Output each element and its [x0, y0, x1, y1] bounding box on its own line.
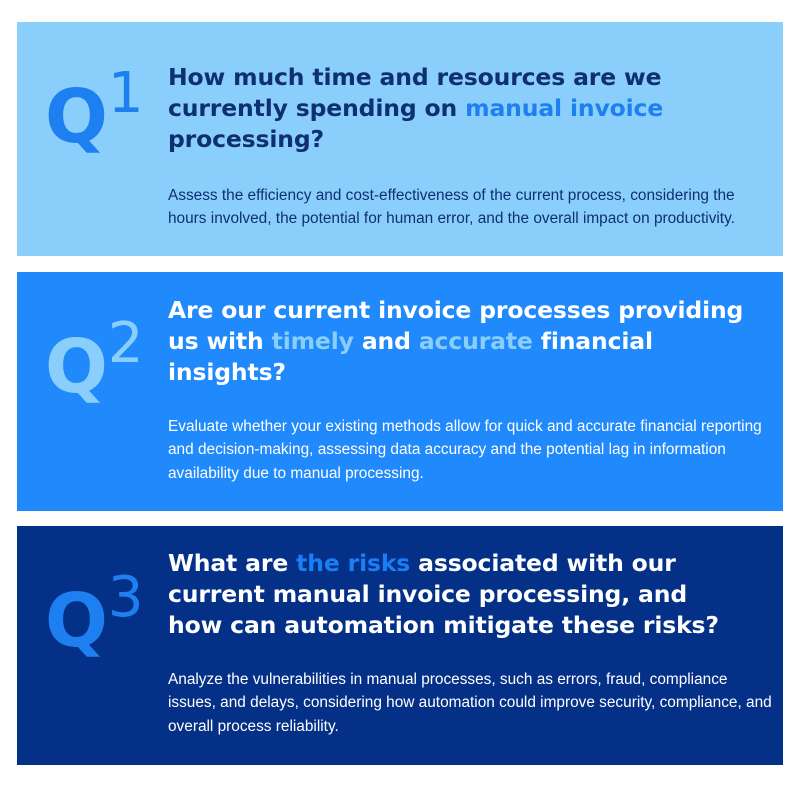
- question-heading-2: Are our current invoice processes provid…: [168, 295, 764, 388]
- monogram-letter: Q: [45, 324, 107, 410]
- question-monogram-2: Q2: [45, 330, 142, 404]
- highlighted-phrase: accurate: [419, 327, 533, 355]
- question-card-2: Q2 Are our current invoice processes pro…: [17, 272, 783, 511]
- monogram-number: 3: [108, 565, 143, 630]
- highlighted-phrase: timely: [272, 327, 354, 355]
- question-text-column-2: Are our current invoice processes provid…: [168, 295, 773, 485]
- highlighted-phrase: manual invoice: [465, 94, 663, 122]
- heading-text-run: What are: [168, 549, 296, 577]
- monogram-letter: Q: [45, 74, 107, 160]
- question-body-2: Evaluate whether your existing methods a…: [168, 415, 773, 485]
- questions-infographic: Q1 How much time and resources are we cu…: [0, 0, 800, 786]
- question-body-3: Analyze the vulnerabilities in manual pr…: [168, 668, 773, 738]
- highlighted-phrase: the risks: [296, 549, 410, 577]
- question-heading-1: How much time and resources are we curre…: [168, 62, 768, 155]
- question-monogram-1: Q1: [45, 80, 142, 154]
- monogram-number: 1: [108, 61, 143, 126]
- question-card-1: Q1 How much time and resources are we cu…: [17, 22, 783, 256]
- heading-text-run: and: [354, 327, 419, 355]
- question-heading-3: What are the risks associated with our c…: [168, 548, 748, 641]
- heading-text-run: processing?: [168, 125, 324, 153]
- question-card-3: Q3 What are the risks associated with ou…: [17, 526, 783, 765]
- question-body-1: Assess the efficiency and cost-effective…: [168, 184, 773, 231]
- question-text-column-1: How much time and resources are we curre…: [168, 62, 773, 231]
- monogram-letter: Q: [45, 578, 107, 664]
- question-text-column-3: What are the risks associated with our c…: [168, 548, 773, 738]
- question-monogram-3: Q3: [45, 584, 142, 658]
- monogram-number: 2: [108, 311, 143, 376]
